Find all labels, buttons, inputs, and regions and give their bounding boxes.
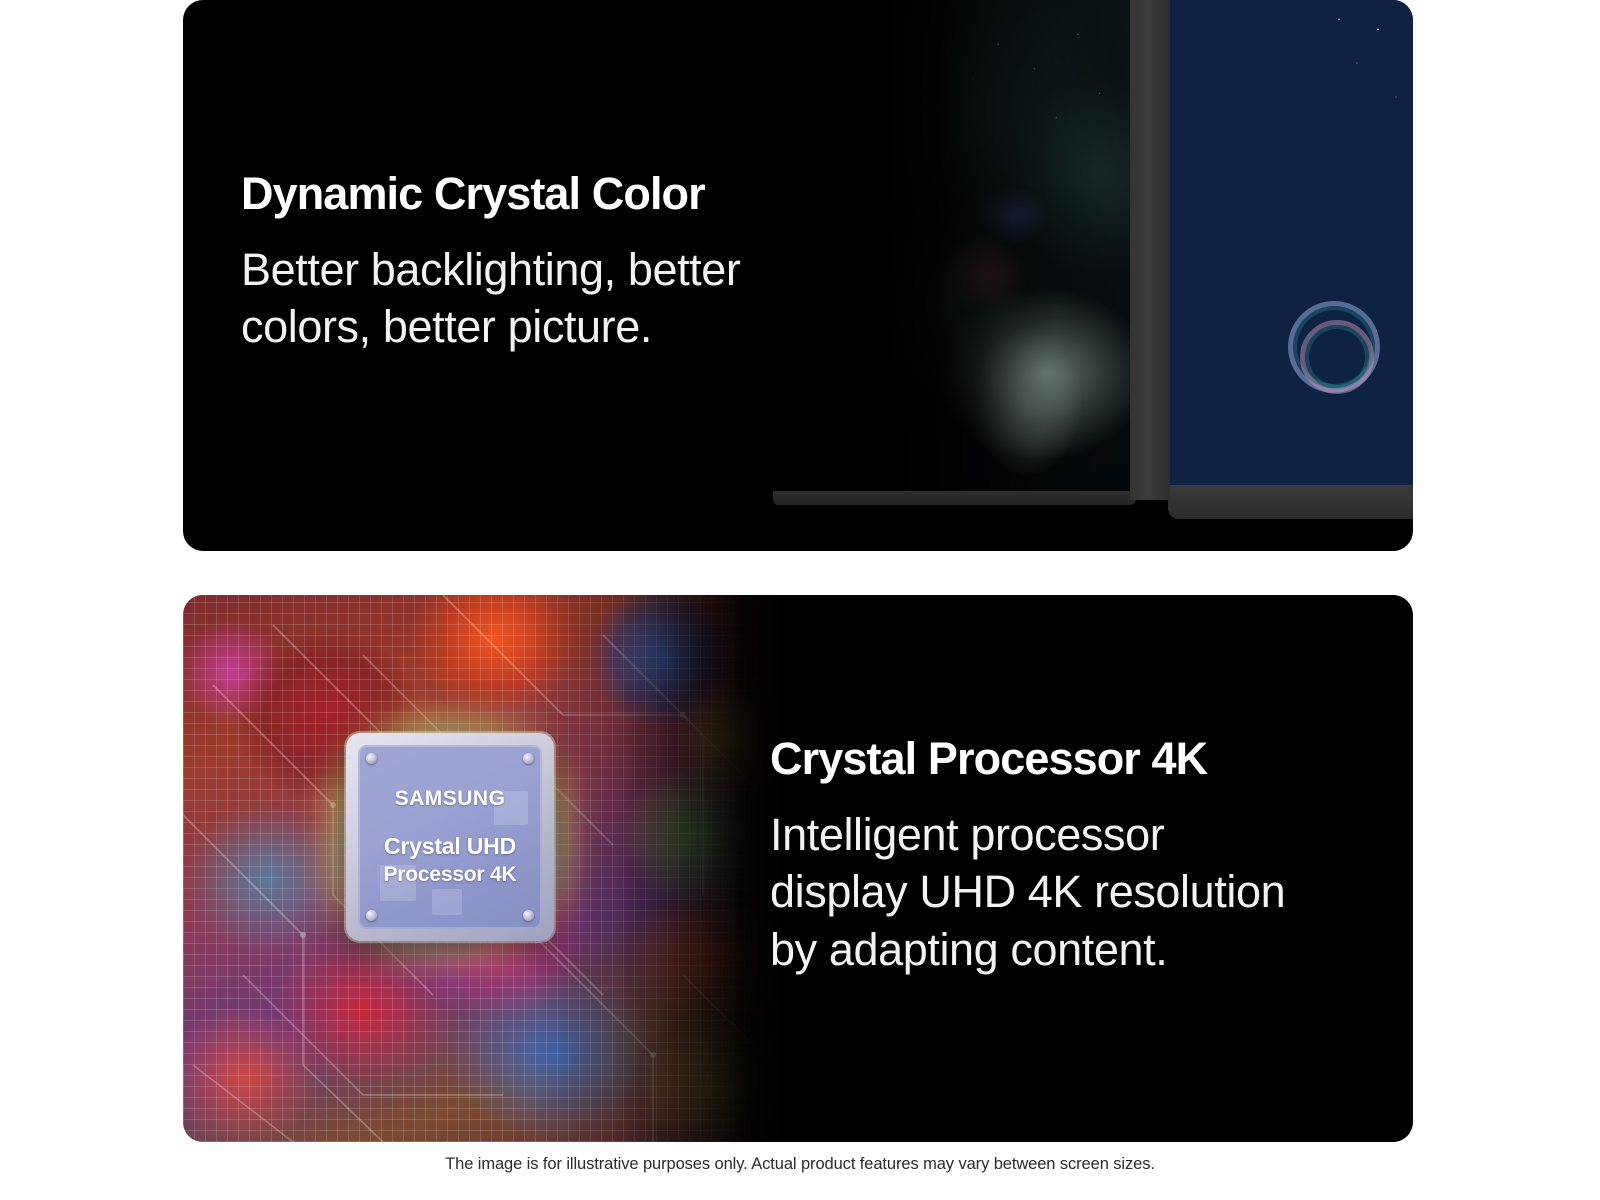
vivid-garden-artwork (1168, 0, 1413, 485)
subhead-line-1: Intelligent processor (770, 809, 1164, 860)
chip-screw-bottom-left-icon (366, 910, 377, 921)
vivid-television-bezel (1168, 485, 1413, 519)
muted-television-bezel (773, 491, 1136, 505)
chip-model-line-2: Processor 4K (383, 863, 516, 887)
television-divider (1130, 0, 1170, 500)
dynamic-crystal-color-text: Dynamic Crystal Color Better backlightin… (241, 170, 941, 356)
subhead-line-1: Better backlighting, better (241, 244, 741, 295)
subhead-line-3: by adapting content. (770, 924, 1167, 975)
crystal-processor-chip: SAMSUNG Crystal UHD Processor 4K (346, 733, 554, 941)
chip-screw-top-left-icon (366, 753, 377, 764)
chip-screw-top-right-icon (523, 753, 534, 764)
vivid-television (1168, 0, 1413, 519)
dynamic-crystal-color-headline: Dynamic Crystal Color (241, 170, 941, 219)
dynamic-crystal-color-subhead: Better backlighting, better colors, bett… (241, 241, 941, 356)
chip-model-line-1: Crystal UHD (384, 833, 516, 860)
footer-disclaimer: The image is for illustrative purposes o… (0, 1155, 1600, 1174)
hoop-accent-secondary-icon (1300, 320, 1374, 394)
page-root: Dynamic Crystal Color Better backlightin… (0, 0, 1600, 1200)
subhead-line-2: colors, better picture. (241, 301, 652, 352)
crystal-processor-text: Crystal Processor 4K Intelligent process… (770, 735, 1370, 978)
chip-brand-label: SAMSUNG (395, 787, 506, 811)
panel-crystal-processor-4k: SAMSUNG Crystal UHD Processor 4K Crystal… (183, 595, 1413, 1142)
chip-screw-bottom-right-icon (523, 910, 534, 921)
crystal-processor-subhead: Intelligent processor display UHD 4K res… (770, 806, 1370, 979)
panel-dynamic-crystal-color: Dynamic Crystal Color Better backlightin… (183, 0, 1413, 551)
subhead-line-2: display UHD 4K resolution (770, 866, 1285, 917)
vivid-television-screen (1168, 0, 1413, 485)
crystal-processor-headline: Crystal Processor 4K (770, 735, 1370, 784)
chip-contact-pad-c (432, 889, 462, 915)
chip-die: SAMSUNG Crystal UHD Processor 4K (358, 745, 542, 929)
